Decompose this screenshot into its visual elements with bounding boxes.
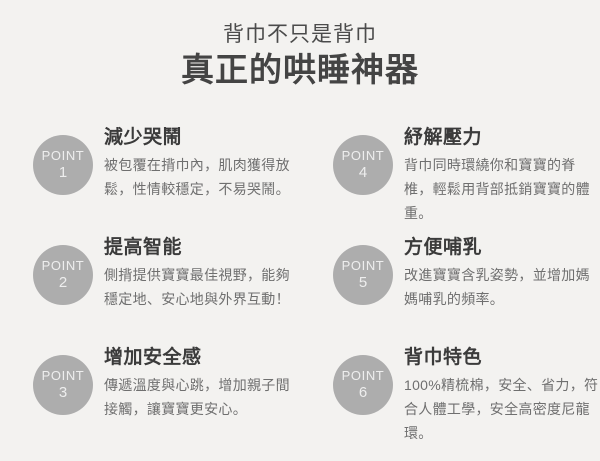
point-title-5: 方便哺乳: [404, 236, 600, 260]
badge-word-label: POINT: [342, 259, 385, 273]
point-text-1: 被包覆在揹巾內，肌肉獲得放鬆，性情較穩定，不易哭鬧。: [104, 153, 300, 201]
badge-number-label: 5: [359, 274, 367, 291]
poster-subtitle: 背巾不只是背巾: [0, 22, 600, 48]
point-text-2: 側揹提供寶寶最佳視野，能夠穩定地、安心地與外界互動！: [104, 263, 300, 311]
badge-word-label: POINT: [342, 369, 385, 383]
point-text-4: 背巾同時環繞你和寶寶的脊椎，輕鬆用背部抵銷寶寶的體重。: [404, 153, 600, 225]
points-grid: POINT 1 減少哭鬧 被包覆在揹巾內，肌肉獲得放鬆，性情較穩定，不易哭鬧。 …: [0, 126, 600, 456]
point-body-1: 減少哭鬧 被包覆在揹巾內，肌肉獲得放鬆，性情較穩定，不易哭鬧。: [93, 126, 300, 201]
point-title-4: 紓解壓力: [404, 126, 600, 150]
point-badge-4: POINT 4: [333, 135, 393, 195]
point-item-5: POINT 5 方便哺乳 改進寶寶含乳姿勢，並增加媽媽哺乳的頻率。: [300, 236, 600, 346]
point-title-6: 背巾特色: [404, 346, 600, 370]
badge-number-label: 1: [59, 164, 67, 181]
point-badge-5: POINT 5: [333, 245, 393, 305]
point-text-3: 傳遞溫度與心跳，增加親子間接觸，讓寶寶更安心。: [104, 373, 300, 421]
badge-word-label: POINT: [42, 369, 85, 383]
point-text-5: 改進寶寶含乳姿勢，並增加媽媽哺乳的頻率。: [404, 263, 600, 311]
point-body-2: 提高智能 側揹提供寶寶最佳視野，能夠穩定地、安心地與外界互動！: [93, 236, 300, 311]
point-item-6: POINT 6 背巾特色 100%精梳棉，安全、省力，符合人體工學，安全高密度尼…: [300, 346, 600, 456]
badge-word-label: POINT: [342, 149, 385, 163]
point-item-4: POINT 4 紓解壓力 背巾同時環繞你和寶寶的脊椎，輕鬆用背部抵銷寶寶的體重。: [300, 126, 600, 236]
point-title-2: 提高智能: [104, 236, 300, 260]
badge-number-label: 6: [359, 384, 367, 401]
point-body-3: 增加安全感 傳遞溫度與心跳，增加親子間接觸，讓寶寶更安心。: [93, 346, 300, 421]
badge-word-label: POINT: [42, 259, 85, 273]
point-item-1: POINT 1 減少哭鬧 被包覆在揹巾內，肌肉獲得放鬆，性情較穩定，不易哭鬧。: [0, 126, 300, 236]
point-body-6: 背巾特色 100%精梳棉，安全、省力，符合人體工學，安全高密度尼龍環。: [393, 346, 600, 445]
point-badge-3: POINT 3: [33, 355, 93, 415]
point-body-4: 紓解壓力 背巾同時環繞你和寶寶的脊椎，輕鬆用背部抵銷寶寶的體重。: [393, 126, 600, 225]
badge-number-label: 2: [59, 274, 67, 291]
point-text-6: 100%精梳棉，安全、省力，符合人體工學，安全高密度尼龍環。: [404, 373, 600, 445]
badge-number-label: 3: [59, 384, 67, 401]
point-title-1: 減少哭鬧: [104, 126, 300, 150]
badge-number-label: 4: [359, 164, 367, 181]
badge-word-label: POINT: [42, 149, 85, 163]
point-item-2: POINT 2 提高智能 側揹提供寶寶最佳視野，能夠穩定地、安心地與外界互動！: [0, 236, 300, 346]
point-title-3: 增加安全感: [104, 346, 300, 370]
point-badge-1: POINT 1: [33, 135, 93, 195]
point-badge-6: POINT 6: [333, 355, 393, 415]
infographic-poster: 背巾不只是背巾 真正的哄睡神器 POINT 1 減少哭鬧 被包覆在揹巾內，肌肉獲…: [0, 0, 600, 461]
poster-title: 真正的哄睡神器: [0, 50, 600, 90]
point-body-5: 方便哺乳 改進寶寶含乳姿勢，並增加媽媽哺乳的頻率。: [393, 236, 600, 311]
point-item-3: POINT 3 增加安全感 傳遞溫度與心跳，增加親子間接觸，讓寶寶更安心。: [0, 346, 300, 456]
poster-header: 背巾不只是背巾 真正的哄睡神器: [0, 0, 600, 90]
point-badge-2: POINT 2: [33, 245, 93, 305]
